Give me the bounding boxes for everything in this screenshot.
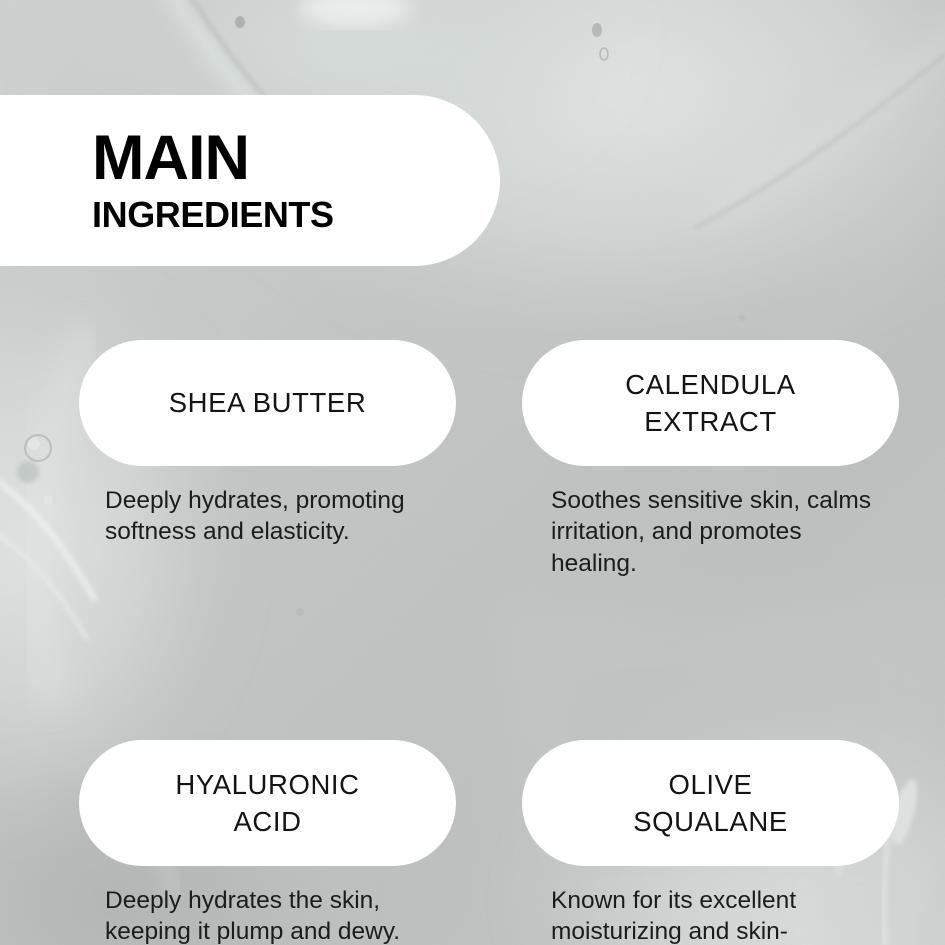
ingredient-description: Soothes sensitive skin, calms irritation… xyxy=(522,485,932,579)
ingredient-name: OLIVE SQUALANE xyxy=(633,766,788,840)
ingredient-description: Known for its excellent moisturizing and… xyxy=(522,885,932,945)
ingredient-card-shea-butter: SHEA BUTTER Deeply hydrates, promoting s… xyxy=(79,340,489,579)
ingredient-card-olive-squalane: OLIVE SQUALANE Known for its excellent m… xyxy=(522,740,932,945)
header-pill: MAIN INGREDIENTS xyxy=(0,95,500,266)
ingredient-pill[interactable]: CALENDULA EXTRACT xyxy=(522,340,899,466)
ingredient-description: Deeply hydrates, promoting softness and … xyxy=(79,485,489,548)
ingredient-card-calendula-extract: CALENDULA EXTRACT Soothes sensitive skin… xyxy=(522,340,932,579)
ingredient-name: SHEA BUTTER xyxy=(169,384,367,421)
ingredient-pill[interactable]: OLIVE SQUALANE xyxy=(522,740,899,866)
ingredient-pill[interactable]: SHEA BUTTER xyxy=(79,340,456,466)
ingredient-card-hyaluronic-acid: HYALURONIC ACID Deeply hydrates the skin… xyxy=(79,740,489,945)
ingredients-row-2: HYALURONIC ACID Deeply hydrates the skin… xyxy=(0,740,945,945)
page-subtitle: INGREDIENTS xyxy=(92,197,500,233)
ingredients-row-1: SHEA BUTTER Deeply hydrates, promoting s… xyxy=(0,340,945,579)
ingredient-name: HYALURONIC ACID xyxy=(175,766,359,840)
ingredients-grid: SHEA BUTTER Deeply hydrates, promoting s… xyxy=(0,340,945,945)
page-title: MAIN xyxy=(92,128,500,190)
ingredient-name: CALENDULA EXTRACT xyxy=(625,366,795,440)
ingredient-description: Deeply hydrates the skin, keeping it plu… xyxy=(79,885,489,945)
ingredient-pill[interactable]: HYALURONIC ACID xyxy=(79,740,456,866)
